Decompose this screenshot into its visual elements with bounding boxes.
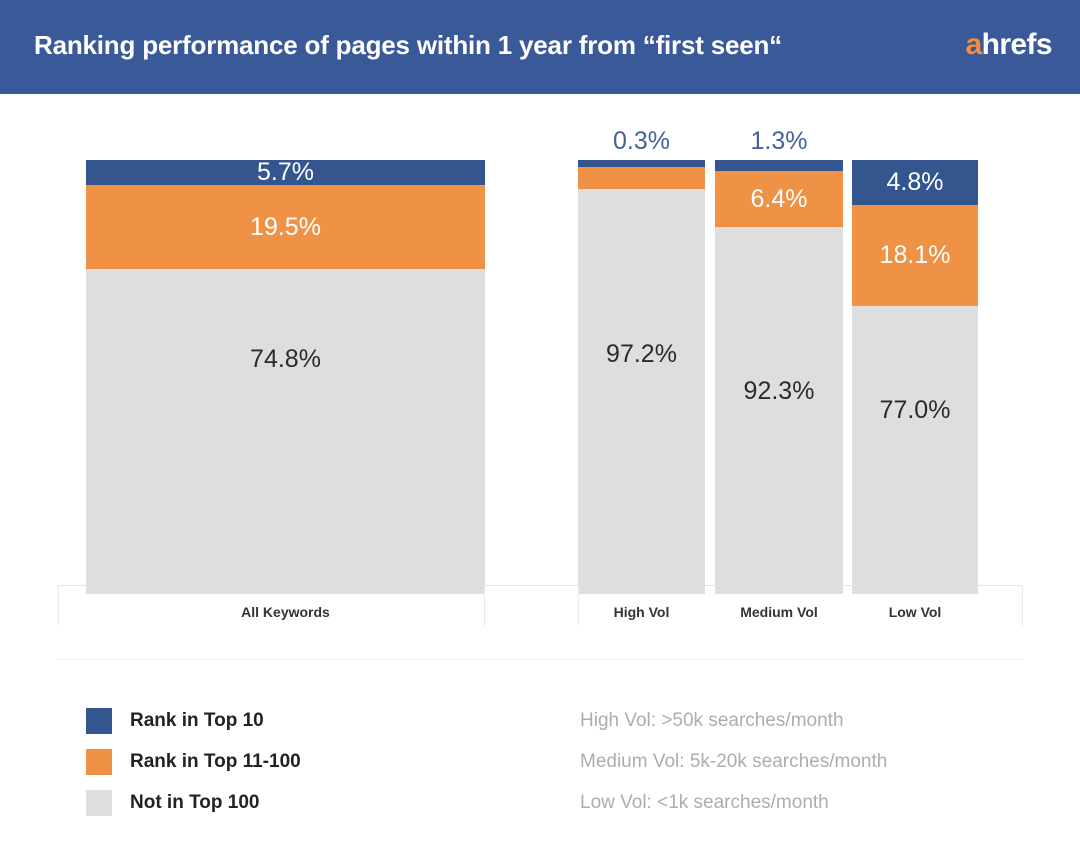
header-bar: Ranking performance of pages within 1 ye…: [0, 0, 1080, 94]
axis-tick: [1022, 586, 1023, 626]
legend-swatch-top100-icon: [86, 749, 112, 775]
bar-label-top10: 5.7%: [257, 160, 314, 185]
bar-label-top10: 1.3%: [751, 129, 808, 154]
page-title: Ranking performance of pages within 1 ye…: [34, 30, 782, 61]
bar-segment-not-top100[interactable]: 74.8%: [86, 269, 485, 594]
bar-high-vol[interactable]: 0.3% 2.5% 97.2%: [578, 160, 705, 594]
bar-label-not-top100: 74.8%: [250, 347, 321, 372]
bar-segment-not-top100[interactable]: 92.3%: [715, 227, 843, 594]
bar-segment-top10[interactable]: 1.3%: [715, 160, 843, 171]
bar-medium-vol[interactable]: 1.3% 6.4% 92.3%: [715, 160, 843, 594]
legend-item-top10[interactable]: Rank in Top 10: [86, 700, 506, 741]
bar-label-not-top100: 92.3%: [744, 379, 815, 404]
axis-tick: [58, 586, 59, 626]
x-axis-line: [58, 585, 1022, 586]
axis-label-all-keywords: All Keywords: [86, 604, 485, 620]
bar-all-keywords[interactable]: 5.7% 19.5% 74.8%: [86, 160, 485, 594]
chart-area: 5.7% 19.5% 74.8% 0.3% 2.5% 97.2%: [0, 94, 1080, 857]
note-medium-vol-text: Medium Vol: 5k-20k searches/month: [580, 751, 887, 773]
bar-segment-top100[interactable]: 18.1%: [852, 205, 978, 306]
legend-swatch-not-top100-icon: [86, 790, 112, 816]
bar-low-vol[interactable]: 4.8% 18.1% 77.0%: [852, 160, 978, 594]
bar-segment-not-top100[interactable]: 97.2%: [578, 189, 705, 594]
bar-label-not-top100: 97.2%: [606, 342, 677, 367]
bar-label-top10: 0.3%: [613, 129, 670, 154]
note-high-vol-text: High Vol: >50k searches/month: [580, 710, 844, 732]
chart-page: Ranking performance of pages within 1 ye…: [0, 0, 1080, 857]
legend: Rank in Top 10 Rank in Top 11-100 Not in…: [86, 700, 506, 823]
note-high-vol: High Vol: >50k searches/month: [580, 700, 1040, 741]
legend-item-top100[interactable]: Rank in Top 11-100: [86, 741, 506, 782]
bar-segment-top10[interactable]: 4.8%: [852, 160, 978, 205]
bar-label-top100: 18.1%: [880, 243, 951, 268]
bar-segment-top100[interactable]: 2.5%: [578, 167, 705, 189]
note-medium-vol: Medium Vol: 5k-20k searches/month: [580, 741, 1040, 782]
legend-swatch-top10-icon: [86, 708, 112, 734]
axis-label-medium-vol: Medium Vol: [715, 604, 843, 620]
legend-item-not-top100[interactable]: Not in Top 100: [86, 782, 506, 823]
logo-letter-a: a: [966, 28, 982, 61]
volume-definitions: High Vol: >50k searches/month Medium Vol…: [580, 700, 1040, 823]
axis-label-high-vol: High Vol: [578, 604, 705, 620]
bar-label-top100: 6.4%: [751, 187, 808, 212]
bar-segment-not-top100[interactable]: 77.0%: [852, 306, 978, 594]
plot-region: 5.7% 19.5% 74.8% 0.3% 2.5% 97.2%: [0, 94, 1080, 594]
bar-label-top10: 4.8%: [887, 170, 944, 195]
legend-divider: [58, 659, 1022, 660]
bar-segment-top100[interactable]: 19.5%: [86, 185, 485, 270]
legend-label-not-top100: Not in Top 100: [130, 792, 259, 814]
bar-segment-top10[interactable]: 5.7%: [86, 160, 485, 185]
axis-label-low-vol: Low Vol: [852, 604, 978, 620]
legend-label-top100: Rank in Top 11-100: [130, 751, 301, 773]
bar-label-not-top100: 77.0%: [880, 398, 951, 423]
ahrefs-logo: ahrefs: [966, 28, 1052, 62]
logo-text-hrefs: hrefs: [982, 28, 1052, 61]
bar-segment-top10[interactable]: 0.3%: [578, 160, 705, 167]
note-low-vol-text: Low Vol: <1k searches/month: [580, 792, 829, 814]
legend-label-top10: Rank in Top 10: [130, 710, 264, 732]
note-low-vol: Low Vol: <1k searches/month: [580, 782, 1040, 823]
bar-segment-top100[interactable]: 6.4%: [715, 171, 843, 227]
bar-label-top100: 19.5%: [250, 215, 321, 240]
